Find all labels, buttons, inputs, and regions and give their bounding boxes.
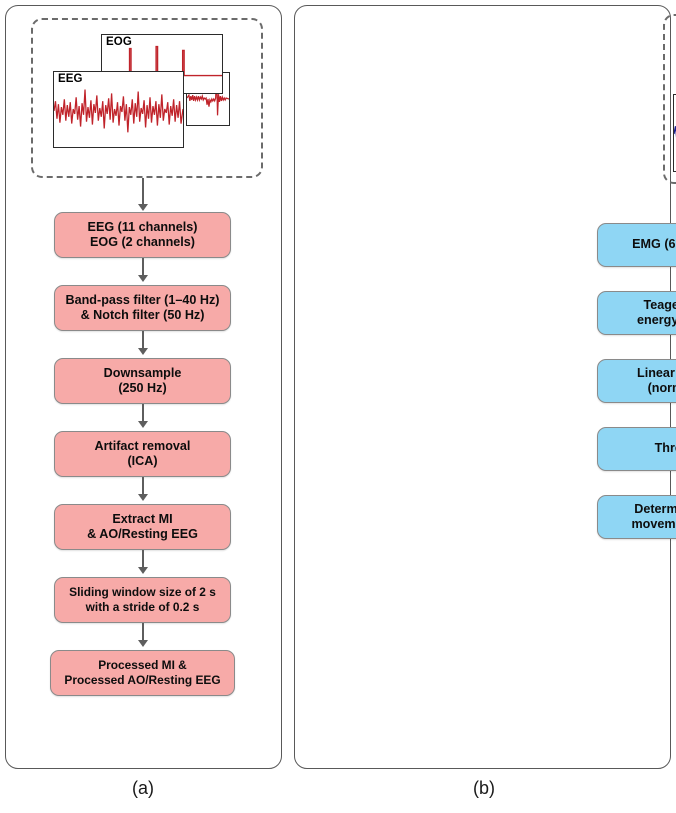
waveform-label-eeg-a: EEG [58,73,83,86]
waveform-label-eog-a: EOG [106,36,132,49]
node-bandpass-notch-filter[interactable]: Band-pass filter (1–40 Hz) & Notch filte… [54,285,231,331]
panel-caption-b: (b) [444,778,524,799]
node-extract-mi-ao-resting[interactable]: Extract MI & AO/Resting EEG [54,504,231,550]
node-artifact-removal[interactable]: Artifact removal (ICA) [54,431,231,477]
node-eeg-eog-channels[interactable]: EEG (11 channels) EOG (2 channels) [54,212,231,258]
arrow-a6-a7 [138,640,148,647]
node-processed-mi-ao-resting[interactable]: Processed MI & Processed AO/Resting EEG [50,650,235,696]
node-movement-onsets[interactable]: Determine actual movement onsets [597,495,676,539]
node-teager-kaiser[interactable]: Teager-Kaiser energy operator [597,291,676,335]
arrow-a5-a6 [138,567,148,574]
arrow-a2-a3 [138,348,148,355]
arrow-a1-a2 [138,275,148,282]
panel-a: EOG EEG EEG (11 channels) EOG (2 channel… [5,5,282,769]
node-sliding-window-2s[interactable]: Sliding window size of 2 s with a stride… [54,577,231,623]
node-threshold[interactable]: Threshold [597,427,676,471]
node-emg-channels[interactable]: EMG (6 channels) [597,223,676,267]
waveform-card-eeg-a: EEG [53,71,184,148]
arrow-a3-a4 [138,421,148,428]
arrow-a4-a5 [138,494,148,501]
node-linear-envelope[interactable]: Linear envelope (normalized) [597,359,676,403]
connector-a-source [142,178,144,207]
panel-caption-a: (a) [103,778,183,799]
panel-b: EMG EOG EEG EMG (6 channels) [294,5,671,769]
node-downsample[interactable]: Downsample (250 Hz) [54,358,231,404]
arrow-a-source [138,204,148,211]
